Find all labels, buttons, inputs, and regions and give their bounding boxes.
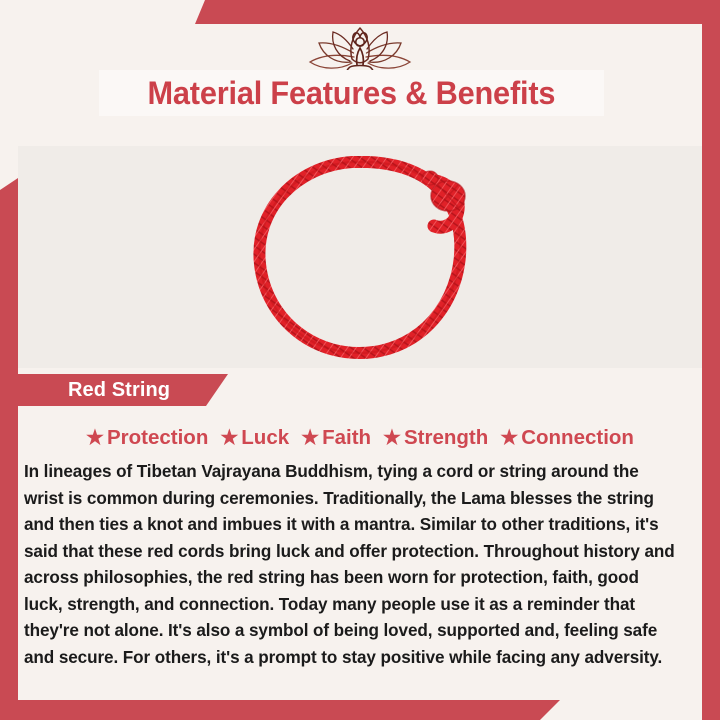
benefit-label: Connection (521, 426, 634, 450)
product-name-banner: Red String (18, 374, 228, 406)
star-icon: ★ (383, 428, 401, 448)
benefits-row: ★ Protection ★ Luck ★ Faith ★ Strength ★… (18, 420, 702, 456)
benefit-item-connection: ★ Connection (494, 426, 640, 450)
product-name-label: Red String (18, 379, 170, 402)
decor-top-red-band (195, 0, 720, 24)
red-string-bracelet-image (216, 148, 504, 367)
page-title: Material Features & Benefits (148, 75, 556, 112)
description-text: In lineages of Tibetan Vajrayana Buddhis… (24, 458, 682, 670)
benefit-item-luck: ★ Luck (214, 426, 295, 450)
infographic-page: BUDDHA STONES Material Features & Benefi… (0, 0, 720, 720)
star-icon: ★ (301, 428, 319, 448)
page-title-band: Material Features & Benefits (99, 70, 604, 116)
benefit-item-faith: ★ Faith (295, 426, 377, 450)
star-icon: ★ (220, 428, 238, 448)
product-image-panel (18, 146, 702, 368)
decor-banner-left-strip (0, 374, 18, 406)
bracelet-knot (422, 171, 465, 227)
benefit-label: Faith (322, 426, 371, 450)
decor-right-red-bar (702, 0, 720, 720)
benefit-label: Strength (404, 426, 488, 450)
benefit-item-protection: ★ Protection (80, 426, 214, 450)
benefit-label: Protection (107, 426, 208, 450)
decor-left-red-bar (0, 178, 18, 720)
benefit-label: Luck (241, 426, 289, 450)
benefit-item-strength: ★ Strength (377, 426, 494, 450)
star-icon: ★ (500, 428, 518, 448)
star-icon: ★ (86, 428, 104, 448)
decor-bottom-red-bar (0, 700, 560, 720)
